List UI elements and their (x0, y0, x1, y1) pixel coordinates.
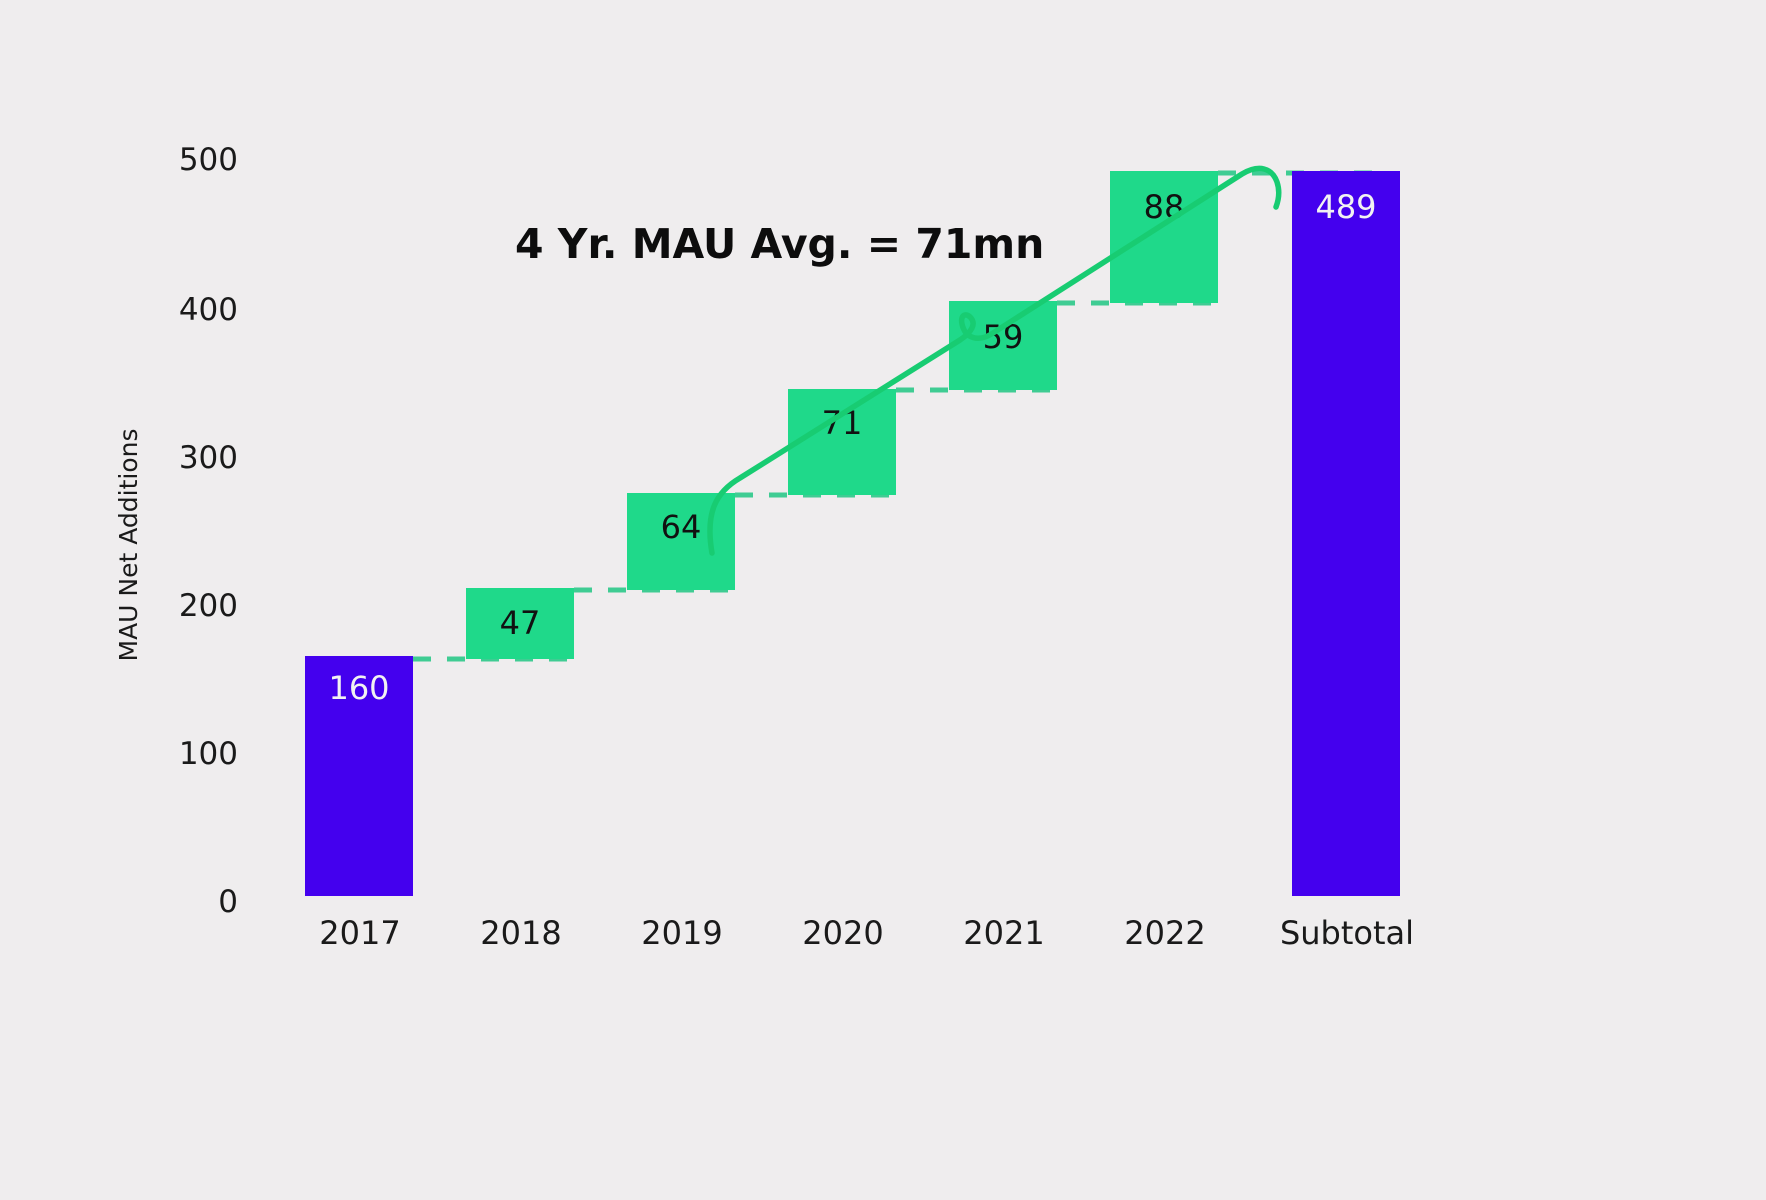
x-label-2022: 2022 (1124, 914, 1205, 952)
x-label-2020: 2020 (802, 914, 883, 952)
annotation-four-year-average: 4 Yr. MAU Avg. = 71mn (515, 220, 1044, 268)
y-tick-200: 200 (179, 588, 238, 624)
y-tick-400: 400 (179, 292, 238, 328)
bar-subtotal[interactable] (1292, 171, 1400, 896)
y-tick-100: 100 (179, 736, 238, 772)
y-tick-0: 0 (218, 884, 238, 920)
y-tick-500: 500 (179, 142, 238, 178)
bar-label-2017: 160 (328, 669, 389, 707)
chart-canvas: 500 400 300 200 100 0 MAU Net Additions (0, 0, 1766, 1200)
x-label-2019: 2019 (641, 914, 722, 952)
bar-label-2019: 64 (661, 508, 702, 546)
chart-background (0, 0, 1766, 1200)
bar-label-2018: 47 (500, 604, 541, 642)
bar-label-2022: 88 (1144, 188, 1185, 226)
x-label-2018: 2018 (480, 914, 561, 952)
x-label-subtotal: Subtotal (1280, 914, 1414, 952)
x-label-2021: 2021 (963, 914, 1044, 952)
y-tick-300: 300 (179, 440, 238, 476)
bar-label-subtotal: 489 (1315, 188, 1376, 226)
y-axis-title: MAU Net Additions (114, 428, 143, 661)
x-label-2017: 2017 (319, 914, 400, 952)
waterfall-chart: 500 400 300 200 100 0 MAU Net Additions (0, 0, 1766, 1200)
